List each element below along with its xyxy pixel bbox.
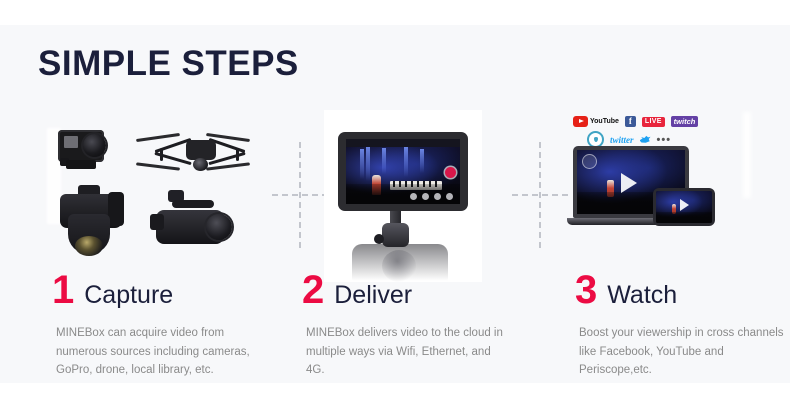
monitor-screen <box>346 139 460 204</box>
step-1-label: Capture <box>84 283 173 308</box>
step-column-2: 2 Deliver <box>292 112 512 262</box>
monitor-control-1-icon <box>410 193 417 200</box>
step-1-heading: 1 Capture <box>52 270 173 310</box>
field-monitor-icon <box>338 132 468 211</box>
facebook-live-badge: LIVE <box>642 117 665 127</box>
step-3-label: Watch <box>607 283 677 308</box>
step-3-artwork: YouTube f LIVE twitch twitter ••• <box>565 112 780 262</box>
monitor-control-2-icon <box>422 193 429 200</box>
step-column-3: YouTube f LIVE twitch twitter ••• <box>565 112 780 262</box>
step-2-artwork <box>292 112 512 262</box>
quadcopter-drone-icon <box>140 120 250 176</box>
step-3-heading: 3 Watch <box>575 270 677 310</box>
step-2-label: Deliver <box>334 283 412 308</box>
play-button-icon <box>621 173 637 193</box>
simple-steps-section: SIMPLE STEPS <box>0 0 790 406</box>
monitor-stage-scene <box>346 147 460 204</box>
laptop-watermark-icon <box>582 154 597 169</box>
mount-knob-icon <box>374 234 384 244</box>
dslr-lens-ghost-icon <box>382 250 416 282</box>
step-3-description: Boost your viewership in cross channels … <box>579 324 784 380</box>
monitor-control-3-icon <box>434 193 441 200</box>
step-2-number: 2 <box>302 270 324 310</box>
page-title: SIMPLE STEPS <box>38 44 299 84</box>
step-3-number: 3 <box>575 270 597 310</box>
camcorder-icon <box>150 188 246 256</box>
step-1-number: 1 <box>52 270 74 310</box>
twitch-icon: twitch <box>671 116 699 127</box>
step-divider-2 <box>512 142 568 248</box>
platform-logo-row-1: YouTube f LIVE twitch <box>573 116 713 127</box>
twitter-bird-icon <box>640 135 651 144</box>
smartphone-icon <box>653 188 715 226</box>
facebook-icon: f <box>625 116 636 127</box>
phone-screen <box>656 191 712 223</box>
phone-play-button-icon <box>680 199 689 211</box>
field-monitor-photo <box>324 110 482 282</box>
youtube-icon: YouTube <box>573 116 619 127</box>
dslr-camera-icon <box>54 188 132 260</box>
monitor-status-bar <box>346 139 460 147</box>
facebook-f-label: f <box>625 116 636 127</box>
youtube-label: YouTube <box>590 118 619 125</box>
twitter-label: twitter <box>610 135 634 145</box>
more-platforms-icon: ••• <box>657 134 672 146</box>
step-1-artwork <box>42 112 272 262</box>
monitor-control-4-icon <box>446 193 453 200</box>
tripod-ball-head-icon <box>382 223 409 247</box>
step-column-1: 1 Capture MINEBox can acquire video from… <box>42 112 272 262</box>
record-indicator-icon <box>445 167 456 178</box>
step-2-description: MINEBox delivers video to the cloud in m… <box>306 324 511 380</box>
gopro-action-camera-icon <box>58 122 118 174</box>
step-1-description: MINEBox can acquire video from numerous … <box>56 324 256 380</box>
